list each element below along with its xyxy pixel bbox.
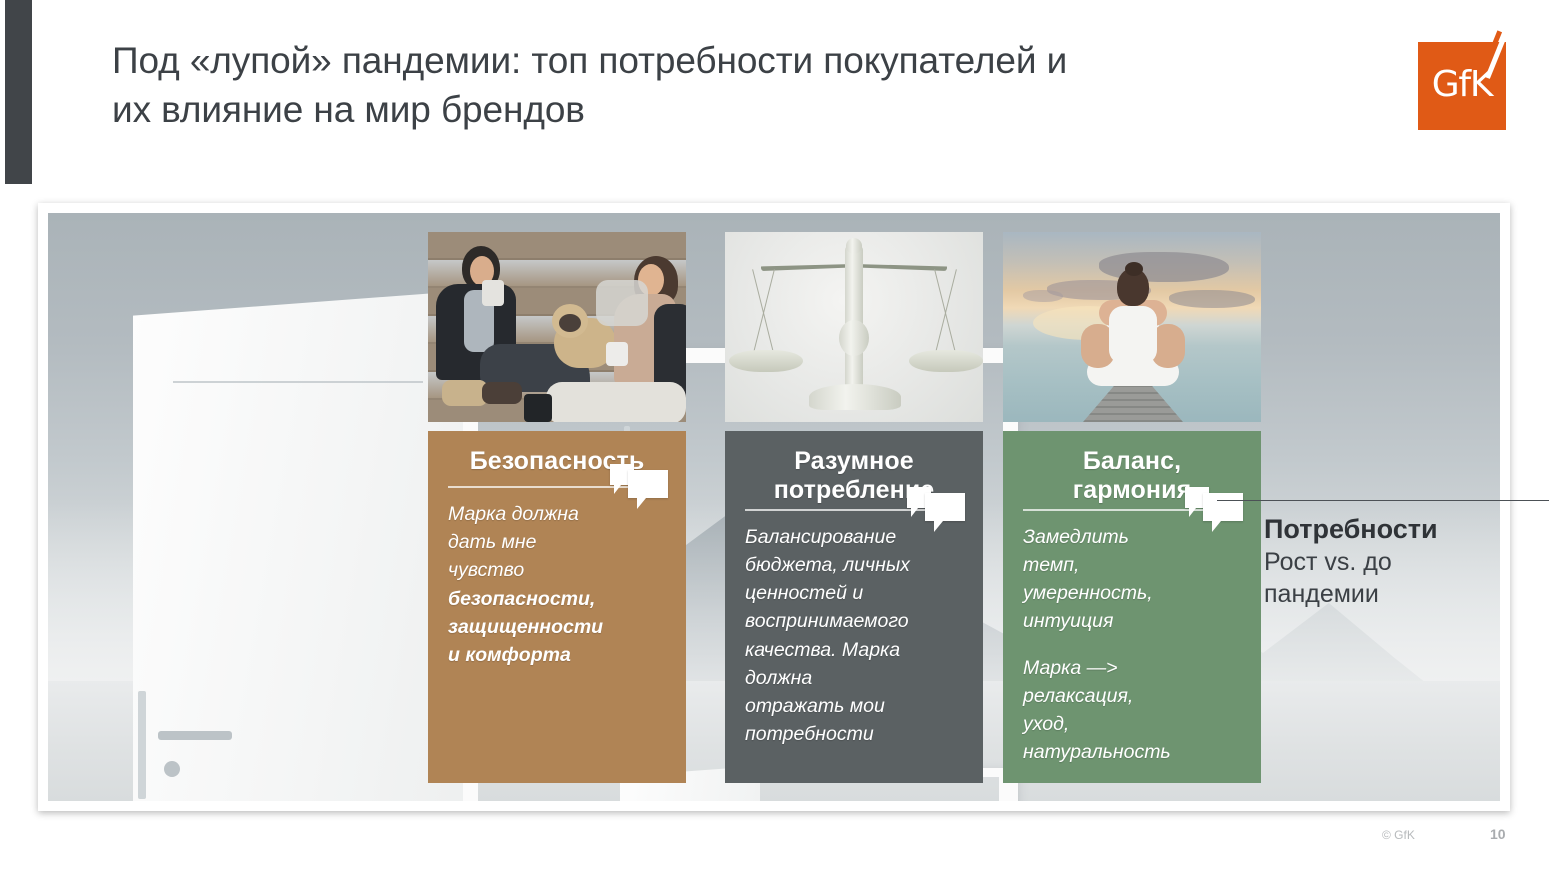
- meditating-figure-top: [1109, 306, 1157, 364]
- door-plate-main: [138, 691, 146, 799]
- speech-bubble-large: [1203, 493, 1243, 521]
- door-lock-main: [164, 761, 180, 777]
- card-security[interactable]: Безопасность Марка должна дать мне чувст…: [428, 431, 686, 783]
- slide-panel: Безопасность Марка должна дать мне чувст…: [38, 203, 1510, 811]
- meditation-sunrise-photo-content: [1003, 232, 1261, 422]
- woman-mug: [606, 342, 628, 366]
- dark-mug-foreground: [524, 394, 552, 422]
- footer-copyright: © GfK: [1382, 828, 1415, 842]
- door-leaf-main: [133, 291, 463, 801]
- speech-bubble-large: [628, 470, 668, 498]
- scale-pan-right: [909, 350, 983, 372]
- pillow: [596, 280, 648, 326]
- card-security-paragraph-1: Марка должна дать мне чувство: [448, 500, 666, 585]
- scale-base: [809, 384, 901, 410]
- man-shoe-right: [482, 382, 522, 404]
- speech-bubbles-icon: [907, 487, 967, 529]
- cloud-small-left: [1023, 290, 1063, 302]
- scale-column: [845, 246, 863, 392]
- door-handle-main: [158, 731, 232, 740]
- balance-scale-photo: [725, 232, 983, 422]
- page-title: Под «лупой» пандемии: топ потребности по…: [112, 36, 1342, 134]
- annotation-subtitle: Рост vs. до пандемии: [1264, 547, 1539, 610]
- annotation-needs: Потребности Рост vs. до пандемии: [1264, 513, 1539, 610]
- card-security-divider: [448, 486, 666, 488]
- balance-scale-photo-content: [725, 232, 983, 422]
- speech-bubbles-icon: [1185, 487, 1245, 529]
- scale-column-bulb: [839, 320, 869, 356]
- couple-with-dog-photo-content: [428, 232, 686, 422]
- door-panel-line-main-top: [173, 381, 424, 383]
- man-mug: [482, 280, 504, 306]
- blanket: [546, 382, 686, 422]
- annotation-title: Потребности: [1264, 513, 1539, 545]
- logo-text: GfK: [1418, 42, 1506, 130]
- cloud-right: [1169, 290, 1255, 308]
- pug-face: [559, 314, 581, 332]
- annotation-connector-line: [1217, 500, 1549, 501]
- card-reasonable-consumption[interactable]: Разумное потребление Балансирование бюдж…: [725, 431, 983, 783]
- card-reasonable-consumption-paragraph-1: Балансирование бюджета, личных ценностей…: [745, 523, 963, 749]
- speech-bubble-large: [925, 493, 965, 521]
- footer-page-number: 10: [1490, 826, 1506, 842]
- scale-pan-left: [729, 350, 803, 372]
- meditating-figure-bun: [1125, 262, 1143, 276]
- card-security-paragraph-2: безопасности, защищенности и комфорта: [448, 585, 666, 670]
- scale-finial: [846, 238, 862, 254]
- couple-with-dog-photo: [428, 232, 686, 422]
- card-reasonable-consumption-divider: [745, 509, 963, 511]
- card-balance-harmony-divider: [1023, 509, 1241, 511]
- speech-bubbles-icon: [610, 464, 670, 506]
- left-accent-bar: [5, 0, 32, 184]
- meditation-sunrise-photo: [1003, 232, 1261, 422]
- card-balance-harmony-paragraph-1: Замедлить темп, умеренность, интуиция: [1023, 523, 1241, 636]
- card-balance-harmony-paragraph-2: Марка —> релаксация, уход, натуральность: [1023, 654, 1241, 767]
- card-balance-harmony[interactable]: Баланс, гармония Замедлить темп, умеренн…: [1003, 431, 1261, 783]
- gfk-logo: GfK: [1418, 28, 1520, 130]
